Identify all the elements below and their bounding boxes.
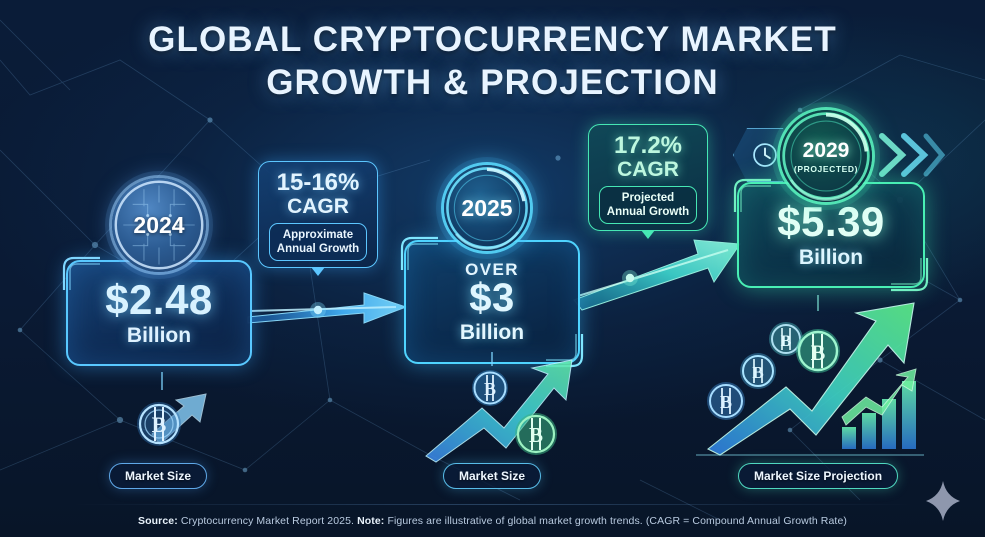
infographic-canvas: GLOBAL CRYPTOCURRENCY MARKET GROWTH & PR… [0, 0, 985, 537]
year-badge-2029: 2029 (PROJECTED) [780, 110, 872, 202]
pill-market-size-2025[interactable]: Market Size [443, 463, 541, 489]
bitcoin-coin-icon: B [707, 382, 745, 420]
callout-pointer [311, 267, 325, 276]
cagr-word: CAGR [599, 158, 697, 181]
market-size-card-2025[interactable]: OVER $3 Billion [404, 240, 580, 364]
bitcoin-coin-icon: B [472, 370, 508, 406]
market-size-card-2024[interactable]: $2.48 Billion [66, 260, 252, 366]
footer-note-label: Note: [357, 515, 384, 527]
footer-source-label: Source: [138, 515, 178, 527]
bitcoin-growth-icon-group-2024: B [126, 372, 234, 450]
cagr-tag-line-2: Annual Growth [276, 242, 360, 256]
footer-note: Source: Cryptocurrency Market Report 202… [0, 515, 985, 527]
year-label: 2029 [803, 139, 850, 163]
market-size-unit: Billion [127, 324, 191, 348]
bitcoin-coin-icon: B [740, 353, 776, 389]
bitcoin-coin-icon: B [137, 402, 181, 446]
sparkle-icon [923, 479, 963, 523]
market-growth-icon-group-2029: B B B B [690, 295, 930, 460]
year-sublabel: (PROJECTED) [794, 164, 858, 174]
footer-note-text: Figures are illustrative of global marke… [384, 515, 847, 527]
pill-market-size-projection-2029[interactable]: Market Size Projection [738, 463, 898, 489]
footer-divider [70, 504, 915, 505]
year-label: 2025 [461, 195, 512, 222]
cagr-tag-line-2: Annual Growth [606, 205, 690, 219]
market-size-value: $3 [469, 278, 515, 318]
bitcoin-coin-icon: B [515, 413, 557, 455]
footer-source-text: Cryptocurrency Market Report 2025. [178, 515, 357, 527]
market-size-value: $2.48 [105, 279, 213, 321]
cagr-percent: 17.2% [599, 133, 697, 158]
arrow-2024-to-2025 [246, 281, 416, 337]
cagr-callout-2024-2025: 15-16% CAGR Approximate Annual Growth [258, 161, 378, 268]
year-label: 2024 [133, 212, 184, 239]
cagr-percent: 15-16% [269, 170, 367, 195]
market-size-unit: Billion [799, 246, 863, 270]
cagr-tag-line-1: Approximate [276, 228, 360, 242]
page-title-line-2: GROWTH & PROJECTION [0, 61, 985, 104]
svg-text:B: B [152, 412, 167, 437]
cagr-tag-line-1: Projected [606, 191, 690, 205]
chevron-double-right-icon [874, 128, 946, 182]
bitcoin-coin-icon: B [796, 329, 840, 373]
pill-market-size-2024[interactable]: Market Size [109, 463, 207, 489]
page-title-line-1: GLOBAL CRYPTOCURRENCY MARKET [0, 18, 985, 61]
market-size-unit: Billion [460, 321, 524, 345]
cagr-callout-2025-2029: 17.2% CAGR Projected Annual Growth [588, 124, 708, 231]
year-badge-2025: 2025 [444, 165, 530, 251]
year-badge-2024: 2024 [112, 178, 206, 272]
cagr-word: CAGR [269, 195, 367, 218]
clock-icon [751, 141, 779, 169]
cagr-tag: Approximate Annual Growth [269, 223, 367, 261]
cagr-tag: Projected Annual Growth [599, 186, 697, 224]
callout-pointer [641, 230, 655, 239]
market-size-value: $5.39 [777, 201, 885, 243]
bitcoin-growth-icon-group-2025: B B [420, 352, 588, 462]
page-title: GLOBAL CRYPTOCURRENCY MARKET GROWTH & PR… [0, 18, 985, 105]
svg-text:B: B [484, 379, 496, 399]
